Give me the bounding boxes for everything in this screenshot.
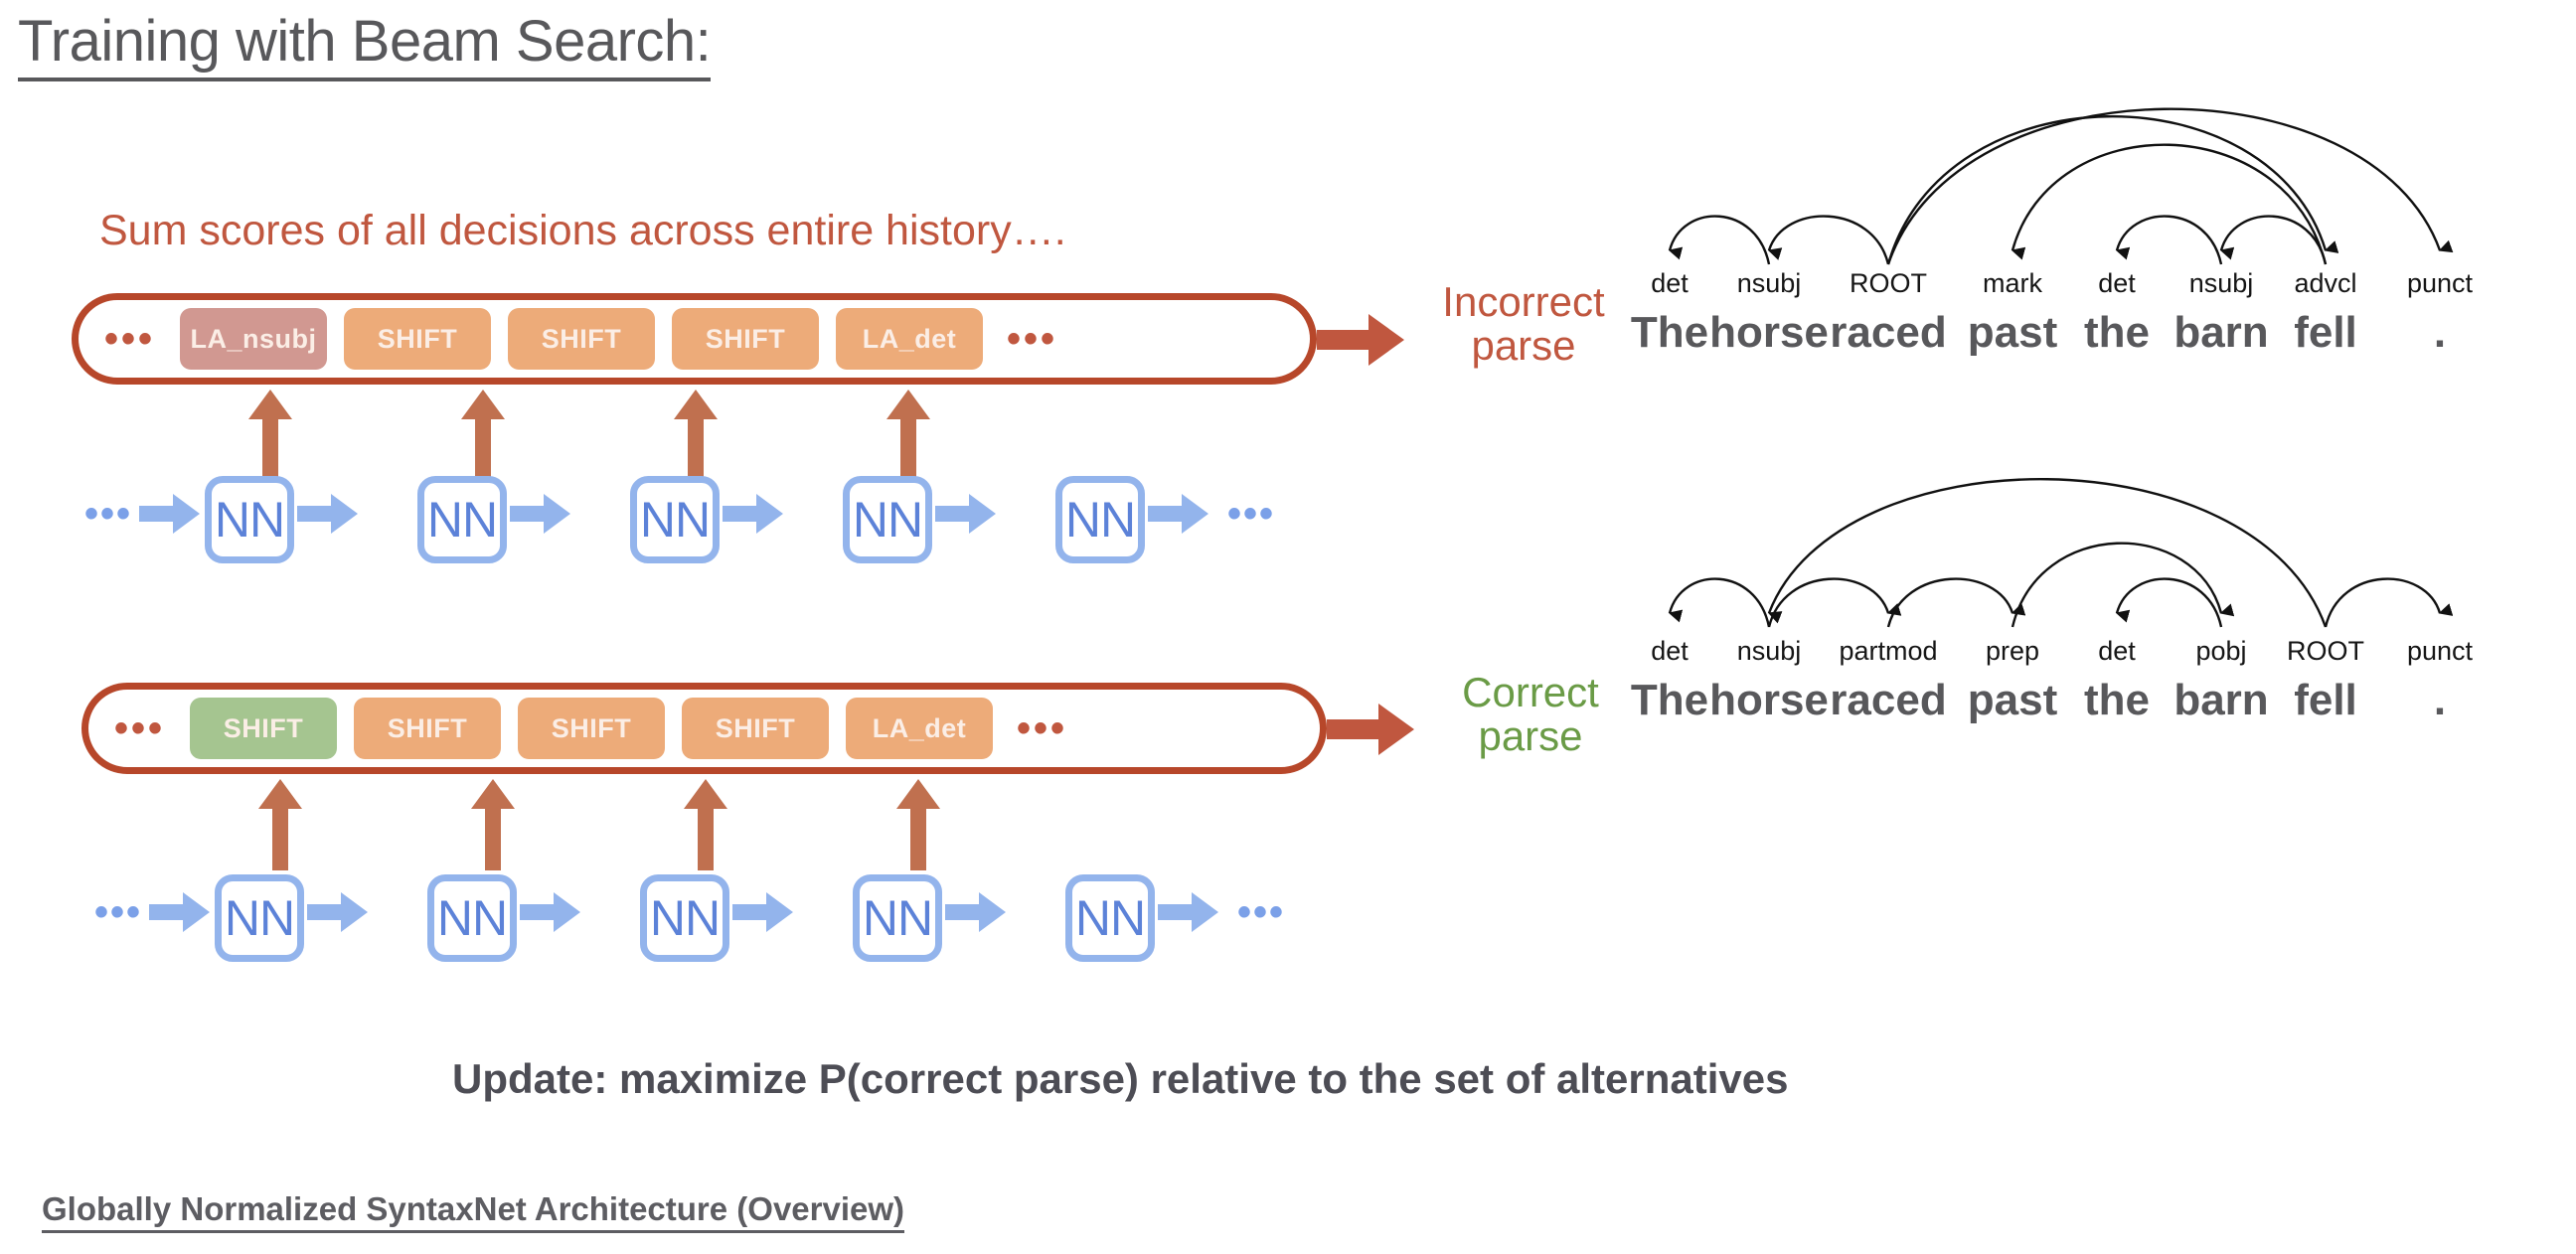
dependency-label: ROOT: [2266, 636, 2385, 667]
page-title-text: Training with Beam Search:: [18, 9, 711, 81]
beam-chip[interactable]: SHIFT: [344, 308, 491, 370]
dependency-arc: [1769, 579, 1888, 627]
dependency-word: raced: [1829, 676, 1948, 725]
nn-unit[interactable]: NN: [205, 476, 294, 563]
dependency-arcs: [1640, 378, 2554, 631]
dependency-word: the: [2057, 308, 2176, 358]
nn-unit[interactable]: NN: [853, 874, 942, 962]
nn-row2-trailing-ellipsis: •••: [1237, 904, 1285, 920]
dependency-arc: [1888, 116, 2326, 264]
dependency-label: partmod: [1829, 636, 1948, 667]
nn-row2-arrow: [307, 892, 369, 932]
dependency-word: .: [2380, 676, 2499, 725]
incorrect-parse-label-line2: parse: [1409, 324, 1638, 368]
dependency-label: advcl: [2266, 268, 2385, 299]
dependency-label: det: [2057, 636, 2176, 667]
nn-row1-trailing-ellipsis: •••: [1227, 506, 1275, 522]
dependency-label-row: detnsubjROOTmarkdetnsubjadvclpunct: [1640, 268, 2554, 304]
nn-row2-leading-ellipsis: •••: [94, 904, 142, 920]
dependency-arc: [1769, 217, 1888, 264]
dependency-word: barn: [2162, 676, 2281, 725]
beam-chip[interactable]: SHIFT: [672, 308, 819, 370]
dependency-arc: [1670, 579, 1769, 627]
dependency-label: punct: [2380, 268, 2499, 299]
nn-row2-arrow: [520, 892, 581, 932]
incorrect-parse-arrow: [1317, 314, 1406, 366]
dependency-arc: [2326, 579, 2440, 627]
beam-row-correct: ••• SHIFT SHIFT SHIFT SHIFT LA_det •••: [81, 683, 1327, 774]
beam-leading-ellipsis: •••: [104, 331, 155, 347]
nn-row2-inbound-arrow: [149, 892, 211, 932]
nn-to-beam-arrows-row1: [248, 390, 1063, 481]
dependency-arcs: [1640, 60, 2554, 268]
beam-chip[interactable]: LA_det: [836, 308, 983, 370]
nn-unit[interactable]: NN: [417, 476, 507, 563]
footer-note-text: Globally Normalized SyntaxNet Architectu…: [42, 1190, 904, 1233]
dependency-arc: [1769, 479, 2326, 627]
dependency-word: raced: [1829, 308, 1948, 358]
dependency-arc: [2012, 145, 2326, 264]
dependency-label: punct: [2380, 636, 2499, 667]
dependency-word: .: [2380, 308, 2499, 358]
beam-leading-ellipsis: •••: [114, 720, 165, 736]
nn-row1-arrow: [510, 494, 571, 534]
dependency-parse-correct: [1640, 378, 2554, 631]
correct-parse-label-line1: Correct: [1421, 671, 1640, 714]
dependency-arc: [1670, 217, 1769, 264]
page-title: Training with Beam Search:: [18, 8, 711, 75]
beam-trailing-ellipsis: •••: [1017, 720, 1067, 736]
dependency-arc: [1888, 109, 2440, 264]
dependency-label: pobj: [2162, 636, 2281, 667]
nn-row1-inbound-arrow: [139, 494, 201, 534]
nn-unit[interactable]: NN: [640, 874, 729, 962]
beam-chip[interactable]: SHIFT: [682, 698, 829, 759]
dependency-label: mark: [1953, 268, 2072, 299]
nn-row1-outbound-arrow: [1148, 494, 1209, 534]
nn-row1-arrow: [297, 494, 359, 534]
dependency-label: prep: [1953, 636, 2072, 667]
nn-unit[interactable]: NN: [1065, 874, 1155, 962]
beam-chip[interactable]: SHIFT: [354, 698, 501, 759]
dependency-word-row: Thehorseracedpastthebarnfell.: [1640, 676, 2554, 731]
dependency-parse-incorrect: [1640, 60, 2554, 268]
correct-parse-arrow: [1327, 704, 1416, 755]
dependency-word: fell: [2266, 308, 2385, 358]
dependency-word: barn: [2162, 308, 2281, 358]
nn-unit[interactable]: NN: [630, 476, 720, 563]
beam-chip[interactable]: SHIFT: [518, 698, 665, 759]
dependency-word-row: Thehorseracedpastthebarnfell.: [1640, 308, 2554, 364]
incorrect-parse-label: Incorrect parse: [1409, 280, 1638, 368]
update-note: Update: maximize P(correct parse) relati…: [452, 1055, 1788, 1103]
dependency-word: the: [2057, 676, 2176, 725]
dependency-label-row: detnsubjpartmodprepdetpobjROOTpunct: [1640, 636, 2554, 672]
nn-unit[interactable]: NN: [1055, 476, 1145, 563]
dependency-label: det: [2057, 268, 2176, 299]
dependency-word: past: [1953, 676, 2072, 725]
beam-trailing-ellipsis: •••: [1007, 331, 1057, 347]
nn-unit[interactable]: NN: [427, 874, 517, 962]
footer-note: Globally Normalized SyntaxNet Architectu…: [42, 1190, 904, 1228]
dependency-word: fell: [2266, 676, 2385, 725]
sum-scores-caption: Sum scores of all decisions across entir…: [99, 207, 1066, 255]
correct-parse-label: Correct parse: [1421, 671, 1640, 758]
dependency-label: ROOT: [1829, 268, 1948, 299]
incorrect-parse-label-line1: Incorrect: [1409, 280, 1638, 324]
nn-row2-arrow: [732, 892, 794, 932]
beam-chip[interactable]: LA_det: [846, 698, 993, 759]
dependency-label: nsubj: [2162, 268, 2281, 299]
nn-row1-leading-ellipsis: •••: [84, 506, 132, 522]
beam-row-incorrect: ••• LA_nsubj SHIFT SHIFT SHIFT LA_det ••…: [72, 293, 1317, 385]
nn-row1-arrow: [723, 494, 784, 534]
nn-unit[interactable]: NN: [843, 476, 932, 563]
dependency-word: horse: [1709, 676, 1829, 725]
nn-row1-arrow: [935, 494, 997, 534]
beam-chip[interactable]: LA_nsubj: [180, 308, 327, 370]
beam-chip[interactable]: SHIFT: [508, 308, 655, 370]
nn-unit[interactable]: NN: [215, 874, 304, 962]
nn-row2-outbound-arrow: [1158, 892, 1219, 932]
beam-chip[interactable]: SHIFT: [190, 698, 337, 759]
correct-parse-label-line2: parse: [1421, 714, 1640, 758]
dependency-word: past: [1953, 308, 2072, 358]
dependency-label: nsubj: [1709, 268, 1829, 299]
nn-to-beam-arrows-row2: [258, 779, 1073, 870]
dependency-word: horse: [1709, 308, 1829, 358]
dependency-arc: [1888, 579, 2012, 627]
dependency-arc: [2117, 217, 2221, 264]
nn-row2-arrow: [945, 892, 1007, 932]
dependency-label: nsubj: [1709, 636, 1829, 667]
dependency-arc: [2117, 579, 2221, 627]
